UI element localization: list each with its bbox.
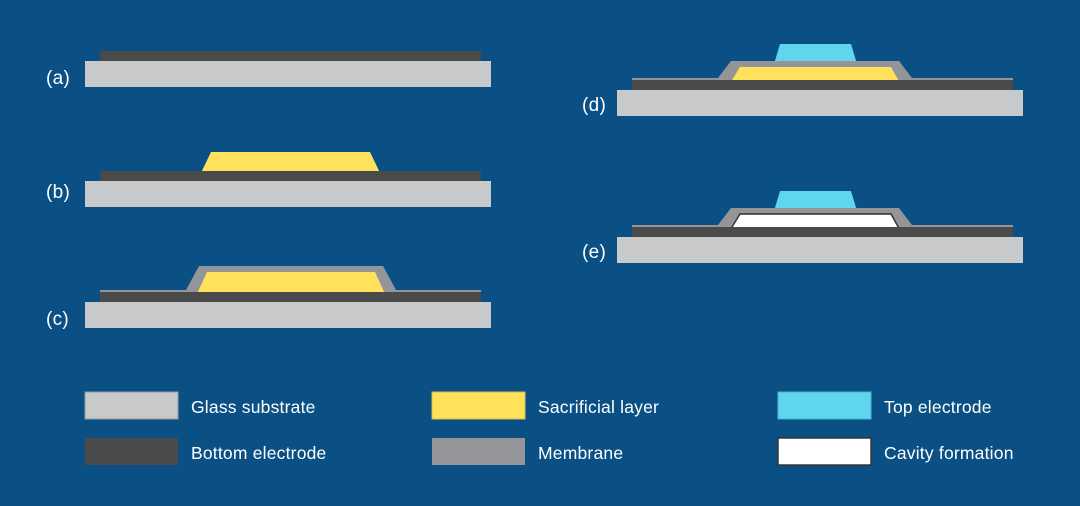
legend-label-membrane: Membrane	[538, 443, 623, 463]
panel-b-label: (b)	[46, 182, 70, 203]
legend-swatch-sacrificial-layer	[432, 392, 525, 419]
panel-d: (d)	[582, 44, 1023, 116]
legend-label-cavity-formation: Cavity formation	[884, 443, 1014, 463]
panel-a-glass-substrate	[85, 61, 491, 87]
legend-label-top-electrode: Top electrode	[884, 397, 992, 417]
panel-d-bottom-electrode	[632, 80, 1013, 90]
legend: Glass substrate Bottom electrode Sacrifi…	[85, 392, 1014, 465]
figure-canvas: (a) (b) (c) (d)	[0, 0, 1080, 506]
legend-label-sacrificial-layer: Sacrificial layer	[538, 397, 659, 417]
panel-d-label: (d)	[582, 95, 606, 116]
legend-label-bottom-electrode: Bottom electrode	[191, 443, 327, 463]
legend-item-sacrificial-layer: Sacrificial layer	[432, 392, 659, 419]
panel-a-label: (a)	[46, 68, 70, 89]
panel-c-bottom-electrode	[100, 292, 481, 302]
legend-item-membrane: Membrane	[432, 438, 623, 465]
panel-e: (e)	[582, 191, 1023, 263]
legend-swatch-membrane	[432, 438, 525, 465]
panel-b: (b)	[46, 152, 491, 207]
panel-b-glass-substrate	[85, 181, 491, 207]
legend-item-glass-substrate: Glass substrate	[85, 392, 316, 419]
legend-label-glass-substrate: Glass substrate	[191, 397, 316, 417]
legend-swatch-top-electrode	[778, 392, 871, 419]
panel-d-glass-substrate	[617, 90, 1023, 116]
panel-a: (a)	[46, 51, 491, 89]
legend-swatch-glass-substrate	[85, 392, 178, 419]
legend-item-cavity-formation: Cavity formation	[778, 438, 1014, 465]
panel-e-glass-substrate	[617, 237, 1023, 263]
panel-c-label: (c)	[46, 309, 69, 330]
legend-swatch-bottom-electrode	[85, 438, 178, 465]
panel-b-bottom-electrode	[100, 171, 481, 181]
panel-e-label: (e)	[582, 242, 606, 263]
panel-e-bottom-electrode	[632, 227, 1013, 237]
process-flow-diagram: (a) (b) (c) (d)	[0, 0, 1080, 506]
legend-swatch-cavity-formation	[778, 438, 871, 465]
panel-a-bottom-electrode	[100, 51, 481, 61]
legend-item-bottom-electrode: Bottom electrode	[85, 438, 327, 465]
legend-item-top-electrode: Top electrode	[778, 392, 992, 419]
panel-c: (c)	[46, 266, 491, 330]
panel-c-glass-substrate	[85, 302, 491, 328]
